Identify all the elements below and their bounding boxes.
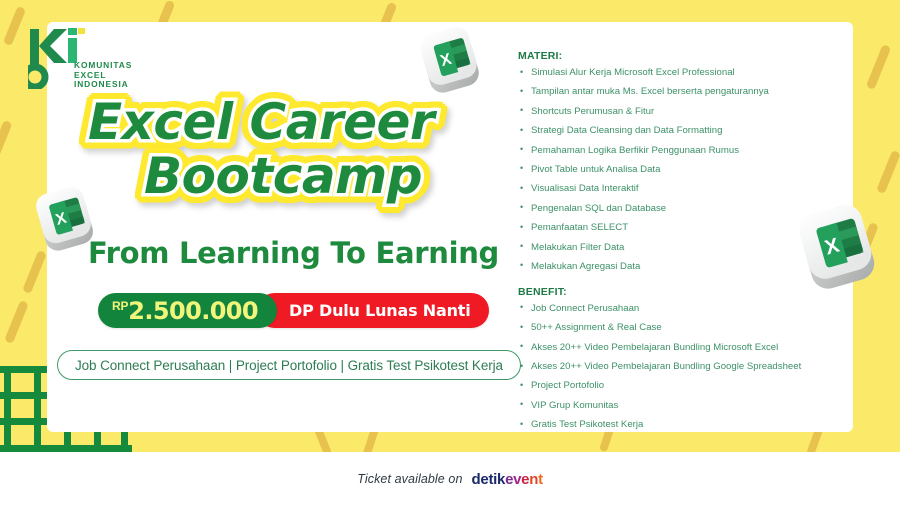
headline-block: Excel Career Bootcamp	[88, 95, 488, 203]
list-item: Shortcuts Perumusan & Fitur	[518, 106, 848, 117]
price-note: DP Dulu Lunas Nanti	[289, 301, 470, 320]
materi-heading: MATERI:	[518, 50, 848, 62]
decor-dash	[4, 300, 29, 344]
microsoft-excel-icon: X	[788, 193, 884, 293]
headline-line-1: Excel Career	[88, 95, 488, 149]
list-item: Strategi Data Cleansing dan Data Formatt…	[518, 125, 848, 136]
brand-line-3: INDONESIA	[74, 80, 132, 90]
list-item: Simulasi Alur Kerja Microsoft Excel Prof…	[518, 67, 848, 78]
detikevent-logo[interactable]: detikevent	[472, 471, 543, 488]
feature-pill: Job Connect Perusahaan | Project Portofo…	[57, 350, 521, 380]
event-wordmark: event	[505, 471, 543, 488]
list-item: VIP Grup Komunitas	[518, 400, 848, 411]
list-item: Tampilan antar muka Ms. Excel berserta p…	[518, 86, 848, 97]
benefit-list: Job Connect Perusahaan50++ Assignment & …	[518, 303, 848, 430]
footer-bar: Ticket available on detikevent	[0, 452, 900, 506]
decor-dash	[866, 44, 892, 90]
price-amount-container: RP 2.500.000	[98, 293, 277, 328]
kei-logo: KOMUNITAS EXCEL INDONESIA	[28, 27, 158, 89]
list-item: Project Portofolio	[518, 380, 848, 391]
list-item: 50++ Assignment & Real Case	[518, 322, 848, 333]
list-item: Pemahaman Logika Berfikir Penggunaan Rum…	[518, 145, 848, 156]
feature-pill-text: Job Connect Perusahaan | Project Portofo…	[75, 358, 503, 373]
price-value: 2.500.000	[128, 297, 258, 325]
price-note-container: DP Dulu Lunas Nanti	[257, 293, 488, 328]
microsoft-excel-icon: X	[412, 18, 486, 96]
price-currency: RP	[112, 299, 128, 313]
price-badge: RP 2.500.000 DP Dulu Lunas Nanti	[98, 293, 489, 328]
kei-logo-wordmark: KOMUNITAS EXCEL INDONESIA	[74, 61, 132, 90]
list-item: Pivot Table untuk Analisa Data	[518, 164, 848, 175]
decor-dash	[876, 150, 900, 194]
list-item: Gratis Test Psikotest Kerja	[518, 419, 848, 430]
headline-line-2: Bootcamp	[144, 149, 488, 203]
microsoft-excel-icon: X	[28, 178, 100, 254]
list-item: Akses 20++ Video Pembelajaran Bundling M…	[518, 342, 848, 353]
poster-background: KOMUNITAS EXCEL INDONESIA Excel Career B…	[0, 0, 900, 452]
list-item: Akses 20++ Video Pembelajaran Bundling G…	[518, 361, 848, 372]
decor-dash	[0, 120, 13, 162]
decor-dash	[22, 250, 47, 294]
ticket-available-label: Ticket available on	[357, 472, 462, 486]
detik-wordmark: detik	[472, 471, 506, 488]
list-item: Job Connect Perusahaan	[518, 303, 848, 314]
headline-subtitle: From Learning To Earning	[88, 236, 499, 270]
decor-dash	[3, 6, 26, 46]
